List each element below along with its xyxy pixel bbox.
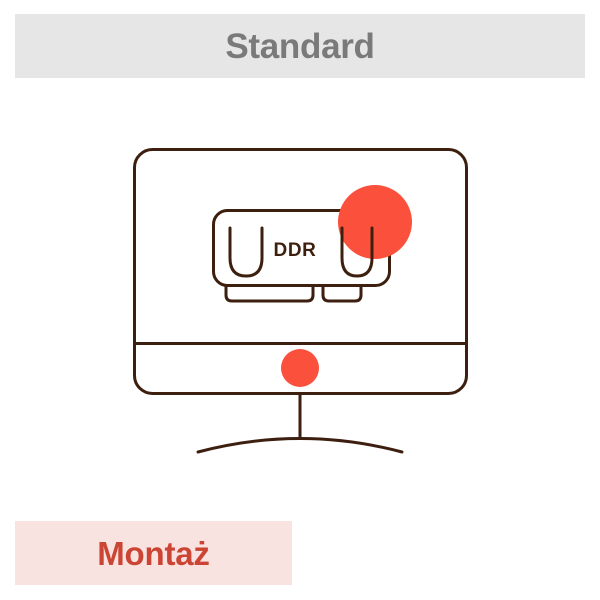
footer-badge-label: Montaż: [97, 537, 209, 570]
ddr-module-label: DDR: [274, 240, 317, 261]
page-root: Standard DDR: [0, 0, 600, 600]
accent-circle-large: [338, 185, 412, 259]
header-banner: Standard: [15, 14, 585, 78]
illustration-svg: DDR: [0, 90, 600, 490]
page-title: Standard: [225, 29, 374, 64]
accent-circle-small: [281, 349, 319, 387]
illustration-monitor-ddr: DDR: [0, 90, 600, 490]
footer-badge-montaz[interactable]: Montaż: [15, 521, 292, 585]
monitor-base: [198, 439, 402, 453]
